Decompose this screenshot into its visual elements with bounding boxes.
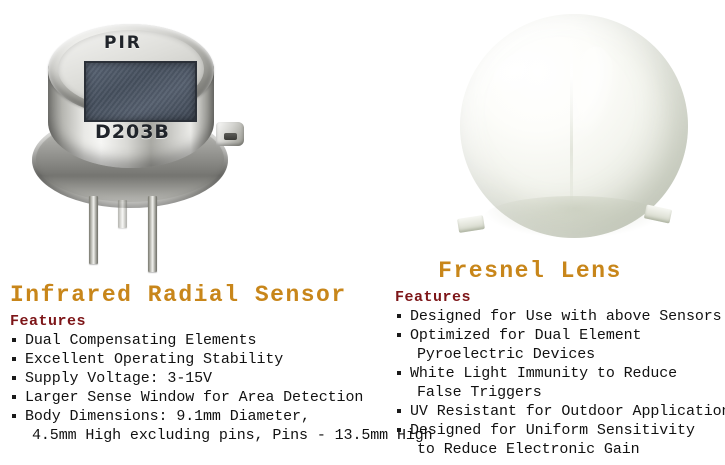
feature-item-continuation: 4.5mm High excluding pins, Pins - 13.5mm…	[10, 426, 410, 445]
sensor-pin-left	[89, 196, 98, 264]
sensor-ir-window	[84, 61, 197, 122]
infrared-sensor-title: Infrared Radial Sensor	[10, 282, 410, 308]
feature-item: Excellent Operating Stability	[10, 350, 410, 369]
feature-item: Body Dimensions: 9.1mm Diameter,	[10, 407, 410, 426]
sensor-pin-right	[148, 196, 157, 272]
fresnel-lens-title: Fresnel Lens	[395, 258, 725, 284]
feature-item: Supply Voltage: 3-15V	[10, 369, 410, 388]
feature-item: Designed for Use with above Sensors	[395, 307, 725, 326]
infrared-sensor-features-heading: Features	[10, 313, 410, 330]
sensor-marking-pir: PIR	[104, 33, 142, 53]
product-sheet: PIR D203B Infrared Radial Sensor Feature…	[0, 0, 725, 465]
feature-item: Optimized for Dual Element	[395, 326, 725, 345]
fresnel-lens-photo	[440, 0, 710, 262]
feature-item: UV Resistant for Outdoor Applications	[395, 402, 725, 421]
feature-item: Larger Sense Window for Area Detection	[10, 388, 410, 407]
feature-item-continuation: Pyroelectric Devices	[395, 345, 725, 364]
feature-item: White Light Immunity to Reduce	[395, 364, 725, 383]
sensor-marking-part-number: D203B	[95, 121, 170, 143]
infrared-sensor-text-block: Infrared Radial Sensor Features Dual Com…	[10, 282, 410, 445]
feature-item-continuation: to Reduce Electronic Gain	[395, 440, 725, 459]
feature-item-continuation: False Triggers	[395, 383, 725, 402]
sensor-side-tab-slot	[224, 133, 237, 140]
lens-base-shading	[484, 196, 664, 238]
lens-mount-tab-left	[457, 215, 485, 233]
infrared-sensor-photo: PIR D203B	[0, 0, 300, 300]
fresnel-lens-text-block: Fresnel Lens Features Designed for Use w…	[395, 258, 725, 459]
feature-item: Designed for Uniform Sensitivity	[395, 421, 725, 440]
feature-item: Dual Compensating Elements	[10, 331, 410, 350]
infrared-sensor-feature-list: Dual Compensating ElementsExcellent Oper…	[10, 331, 410, 445]
fresnel-lens-features-heading: Features	[395, 289, 725, 306]
fresnel-lens-feature-list: Designed for Use with above SensorsOptim…	[395, 307, 725, 459]
sensor-pin-middle	[118, 200, 127, 228]
